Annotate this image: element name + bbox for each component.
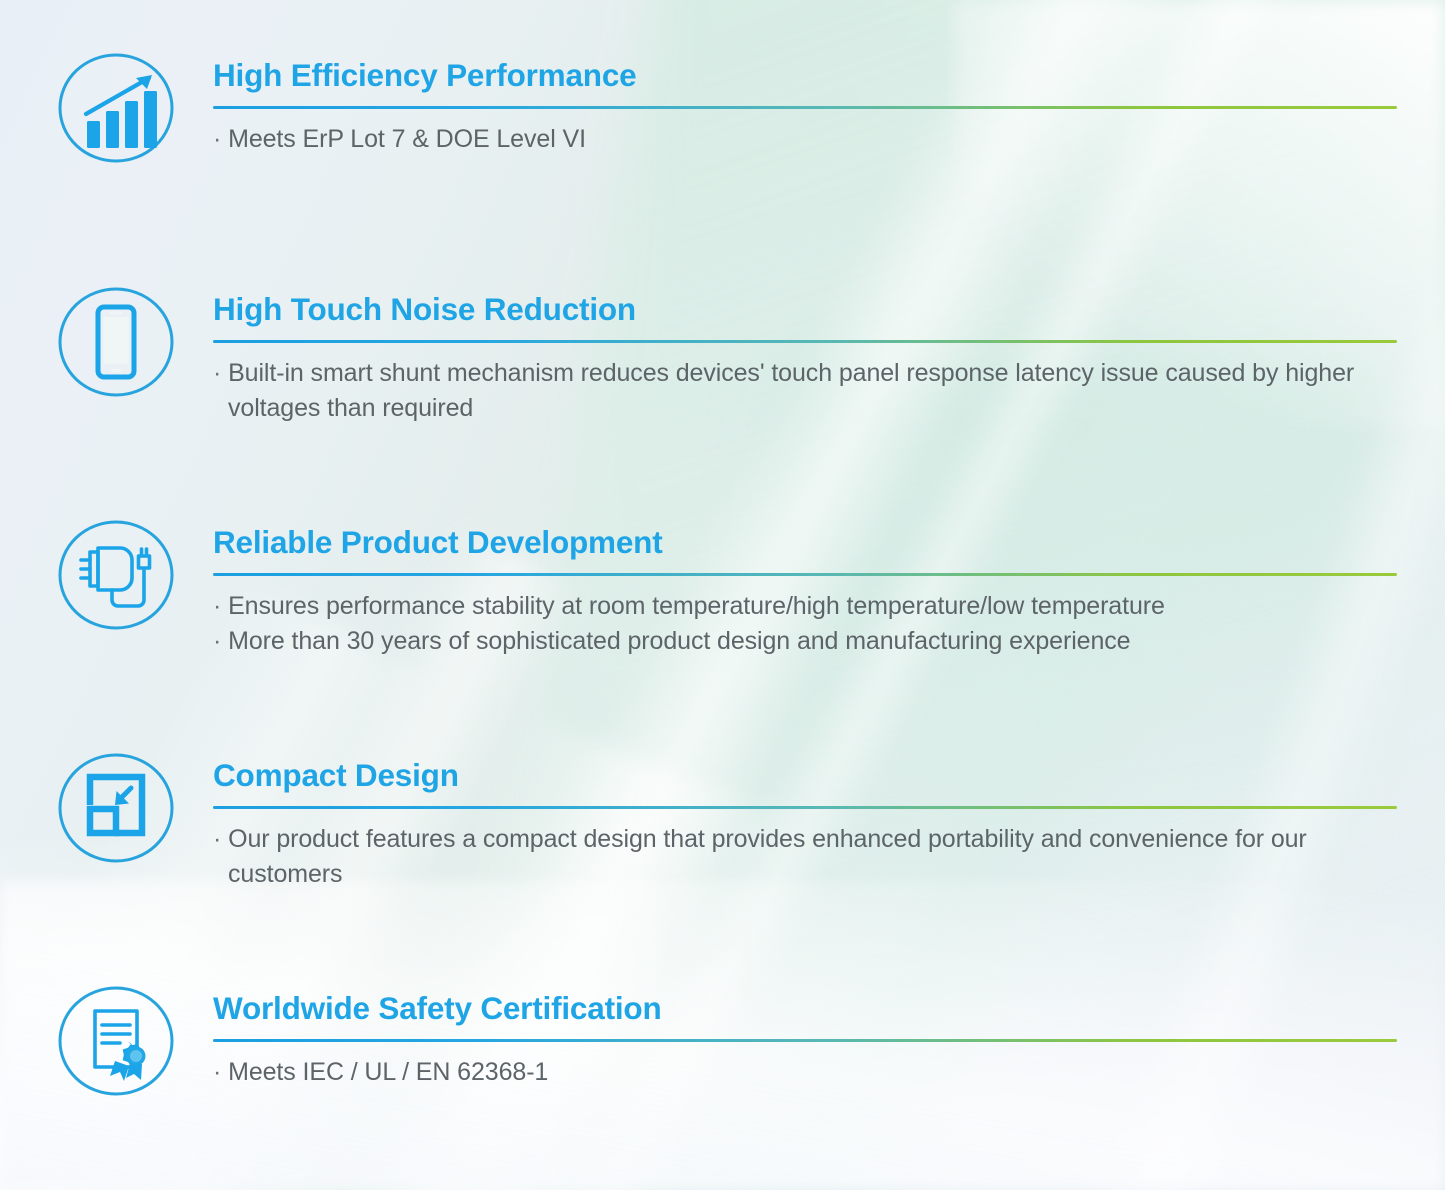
feature-content: High Efficiency Performance · Meets ErP … xyxy=(213,52,1397,157)
feature-content: Reliable Product Development · Ensures p… xyxy=(213,519,1397,659)
power-adapter-icon xyxy=(52,517,180,633)
feature-divider xyxy=(213,340,1397,343)
bullet-marker: · xyxy=(213,627,221,655)
smartphone-icon xyxy=(52,284,180,400)
feature-bullet: · Meets IEC / UL / EN 62368-1 xyxy=(213,1055,1397,1090)
feature-bullet-text: More than 30 years of sophisticated prod… xyxy=(228,627,1130,655)
feature-divider xyxy=(213,573,1397,576)
feature-list: High Efficiency Performance · Meets ErP … xyxy=(0,0,1445,1190)
feature-bullet-list: · Meets IEC / UL / EN 62368-1 xyxy=(213,1051,1397,1090)
feature-bullet-text: Meets IEC / UL / EN 62368-1 xyxy=(228,1058,548,1086)
feature-bullet: · Our product features a compact design … xyxy=(213,822,1397,892)
bullet-marker: · xyxy=(213,359,221,387)
feature-bullet-list: · Ensures performance stability at room … xyxy=(213,585,1397,659)
feature-item-worldwide-safety-certification: Worldwide Safety Certification · Meets I… xyxy=(52,985,1397,1099)
bar-chart-growth-icon xyxy=(52,50,180,166)
compact-resize-icon xyxy=(52,750,180,866)
feature-title: Compact Design xyxy=(213,758,1397,793)
bullet-marker: · xyxy=(213,592,221,620)
feature-bullet-list: · Our product features a compact design … xyxy=(213,818,1397,892)
feature-item-compact-design: Compact Design · Our product features a … xyxy=(52,752,1397,892)
bullet-marker: · xyxy=(213,125,221,153)
feature-bullet-text: Ensures performance stability at room te… xyxy=(228,592,1165,620)
feature-content: High Touch Noise Reduction · Built-in sm… xyxy=(213,286,1397,426)
bullet-marker: · xyxy=(213,1058,221,1086)
feature-bullet: · Ensures performance stability at room … xyxy=(213,589,1397,624)
feature-bullet-list: · Meets ErP Lot 7 & DOE Level VI xyxy=(213,118,1397,157)
feature-title: Reliable Product Development xyxy=(213,525,1397,560)
feature-title: High Efficiency Performance xyxy=(213,58,1397,93)
feature-content: Worldwide Safety Certification · Meets I… xyxy=(213,985,1397,1090)
feature-divider xyxy=(213,806,1397,809)
feature-divider xyxy=(213,1039,1397,1042)
bullet-marker: · xyxy=(213,825,221,853)
feature-bullet-list: · Built-in smart shunt mechanism reduces… xyxy=(213,352,1397,426)
feature-bullet-text: Our product features a compact design th… xyxy=(228,825,1307,888)
feature-item-high-touch-noise-reduction: High Touch Noise Reduction · Built-in sm… xyxy=(52,286,1397,426)
feature-divider xyxy=(213,106,1397,109)
feature-title: High Touch Noise Reduction xyxy=(213,292,1397,327)
feature-bullet: · More than 30 years of sophisticated pr… xyxy=(213,624,1397,659)
feature-item-high-efficiency-performance: High Efficiency Performance · Meets ErP … xyxy=(52,52,1397,166)
feature-bullet: · Built-in smart shunt mechanism reduces… xyxy=(213,356,1397,426)
feature-bullet: · Meets ErP Lot 7 & DOE Level VI xyxy=(213,122,1397,157)
feature-content: Compact Design · Our product features a … xyxy=(213,752,1397,892)
feature-bullet-text: Meets ErP Lot 7 & DOE Level VI xyxy=(228,125,586,153)
feature-bullet-text: Built-in smart shunt mechanism reduces d… xyxy=(228,359,1354,422)
feature-item-reliable-product-development: Reliable Product Development · Ensures p… xyxy=(52,519,1397,659)
certificate-badge-icon xyxy=(52,983,180,1099)
feature-title: Worldwide Safety Certification xyxy=(213,991,1397,1026)
